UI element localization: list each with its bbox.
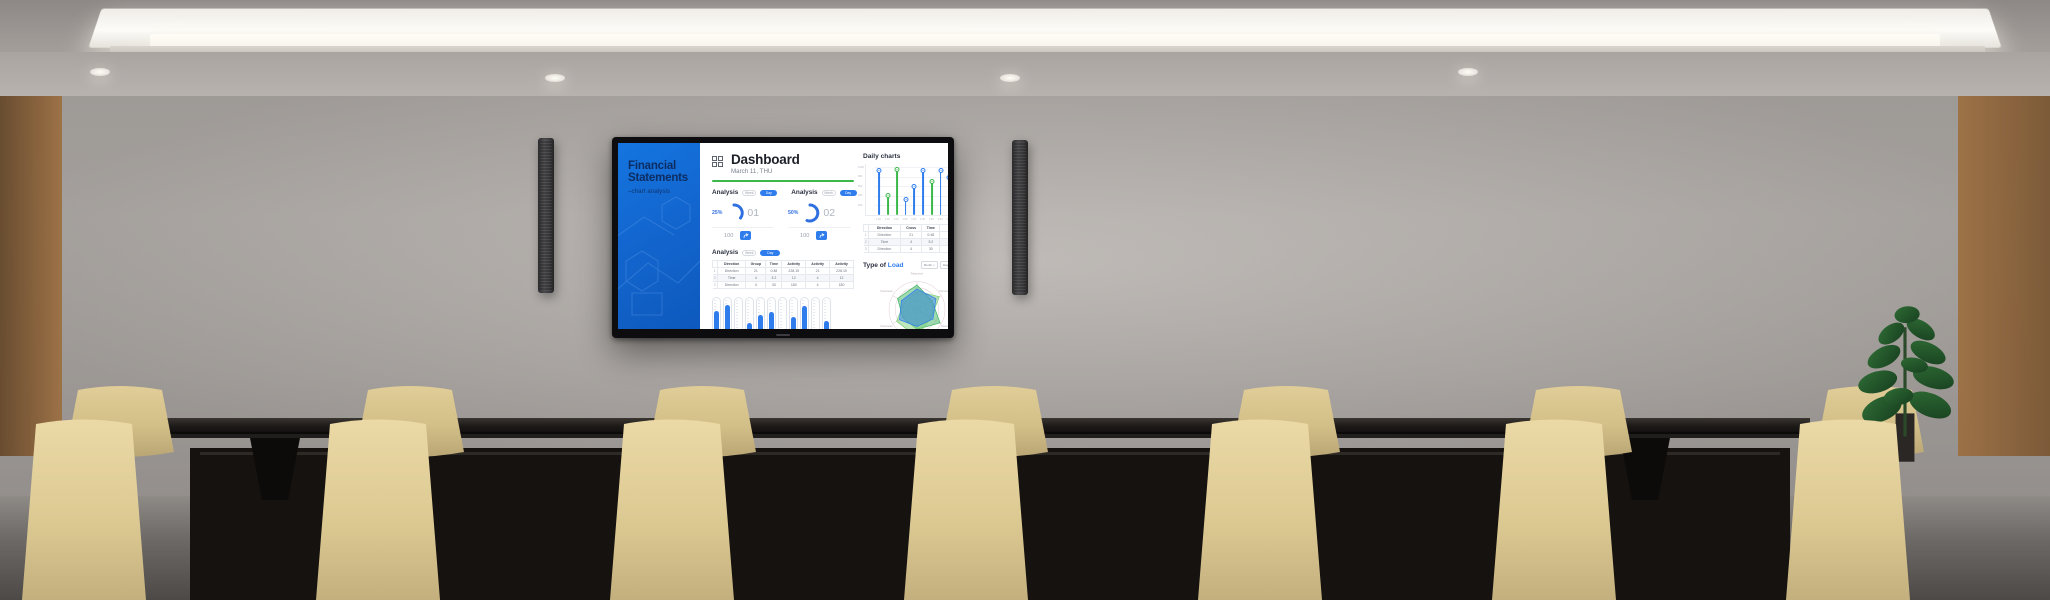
capsule-fill: [714, 311, 719, 329]
capsule-gauge-3[interactable]: [745, 297, 754, 329]
radar-label-0: Parameter: [911, 272, 924, 276]
daily-charts-plot: 1000 800 600 400 200: [865, 164, 948, 216]
lollipop-marker: [903, 197, 908, 202]
cell-0: Time: [869, 239, 901, 246]
cell-3: 228.15: [782, 268, 806, 275]
y-tick-3: 400: [858, 194, 862, 197]
cell-1: 21: [746, 268, 766, 275]
lollipop-stem: [896, 169, 898, 215]
analysis-label-2: Analysis: [791, 189, 817, 196]
lollipop-5[interactable]: [919, 164, 928, 215]
grid-icon: [712, 156, 725, 169]
cell-1: 4: [746, 282, 766, 289]
table-col-4: Activity: [806, 261, 830, 268]
cell-1: 4: [900, 246, 922, 253]
filter-select-1[interactable]: Day ▾: [940, 261, 948, 269]
cell-2: 3:2: [766, 275, 782, 282]
type-of-load-title-accent: Load: [888, 262, 904, 269]
table-row[interactable]: 1Direction210:48228.15: [864, 232, 949, 239]
speaker-bar-left: [538, 138, 554, 293]
cell-4: 21: [806, 268, 830, 275]
lollipop-6[interactable]: [927, 164, 936, 215]
slat-shading-left: [0, 96, 62, 456]
cell-0: Direction: [869, 246, 901, 253]
analysis-toggle-day-2[interactable]: Day: [840, 190, 857, 196]
cell-0: Direction: [869, 232, 901, 239]
lollipop-0[interactable]: [875, 164, 884, 215]
filter-label: Day: [943, 263, 948, 267]
dashboard-left-column: Dashboard March 11, THU Analysis Week Da…: [712, 153, 854, 323]
cell-3: 12: [940, 239, 948, 246]
capsule-fill: [791, 317, 796, 329]
table-header-row: DirectionCrossTimeDistance: [864, 225, 949, 232]
dashboard-header: Dashboard March 11, THU: [712, 153, 854, 175]
type-of-load-title-prefix: Type of: [863, 262, 888, 269]
cover-subtitle: –chart analysis: [628, 188, 700, 195]
cell-2: 3:2: [922, 239, 940, 246]
cover-title-line1: Financial: [628, 160, 700, 172]
lollipop-stem: [940, 170, 942, 215]
table-col-0: Direction: [718, 261, 746, 268]
analysis-toggle-row: Analysis Week Day Analysis Week Day: [712, 189, 854, 196]
capsule-gauge-10[interactable]: [822, 297, 831, 329]
table-col-5: Activity: [830, 261, 854, 268]
analysis-toggle-week-1[interactable]: Week: [742, 190, 756, 196]
lollipop-stem: [931, 181, 933, 215]
table-row[interactable]: 3Direction4301804180: [713, 282, 854, 289]
type-of-load-title: Type of Load: [863, 262, 904, 269]
lollipop-marker: [929, 179, 934, 184]
x-tick-0: 1.00: [874, 218, 883, 221]
lollipop-marker: [912, 184, 917, 189]
lollipop-8[interactable]: [945, 164, 948, 215]
analysis-toggle-day-1[interactable]: Day: [760, 190, 777, 196]
wall-mounted-display[interactable]: Financial Statements –chart analysis Das…: [612, 137, 954, 338]
cell-0: Direction: [718, 268, 746, 275]
floor-band: [0, 496, 2050, 600]
lollipop-3[interactable]: [901, 164, 910, 215]
x-tick-8: 1.00: [945, 218, 949, 221]
type-of-load-radar-chart: ParameterParameter 01ParameterParameterP…: [863, 271, 948, 329]
capsule-gauge-chart: [712, 295, 854, 329]
capsule-ticks: [813, 300, 815, 329]
speaker-bar-right: [1012, 140, 1028, 295]
analysis-label-1: Analysis: [712, 189, 738, 196]
ceiling-plane: [0, 52, 2050, 100]
analysis-block-1: Analysis Week Day: [712, 189, 777, 196]
gauge-row: 25% 01 100: [712, 203, 854, 240]
gauge-top-2: 50% 02: [788, 203, 850, 223]
capsule-fill: [758, 315, 763, 329]
capsule-fill: [769, 312, 774, 329]
daily-charts-x-axis: 1.001.001.001.001.001.001.001.001.001.00…: [863, 218, 948, 221]
dashboard-screen: Financial Statements –chart analysis Das…: [618, 143, 948, 329]
x-tick-7: 1.00: [936, 218, 945, 221]
cell-3: 180: [940, 246, 948, 253]
table-col-3: Activity: [782, 261, 806, 268]
y-tick-4: 200: [858, 204, 862, 207]
gauge-index-1: 01: [747, 207, 759, 219]
type-of-load-filters: Month ▾ Day ▾ Year ▾: [921, 261, 948, 269]
wood-slat-panel-left: [0, 96, 62, 456]
radar-label-4: Parameter: [880, 324, 893, 328]
cell-0: Direction: [718, 282, 746, 289]
type-of-load-header: Type of Load Month ▾ Day ▾ Year ▾: [863, 261, 948, 269]
cover-panel: Financial Statements –chart analysis: [618, 143, 700, 329]
conference-room-scene: Financial Statements –chart analysis Das…: [0, 0, 2050, 600]
table-col-2: Time: [766, 261, 782, 268]
slat-shading-right: [1958, 96, 2050, 456]
x-tick-3: 1.00: [900, 218, 909, 221]
cell-5: 12: [830, 275, 854, 282]
cell-1: 4: [746, 275, 766, 282]
cell-2: 30: [766, 282, 782, 289]
capsule-fill: [824, 321, 829, 329]
cell-3: 228.15: [940, 232, 948, 239]
gauge-percent-1: 25%: [712, 210, 722, 216]
lollipop-marker: [947, 175, 948, 180]
dashboard-content: Dashboard March 11, THU Analysis Week Da…: [700, 143, 948, 329]
share-icon-button-1[interactable]: [740, 231, 751, 240]
gauge-bottom-2: 100: [788, 227, 850, 240]
cover-title: Financial Statements: [628, 160, 700, 185]
lollipop-4[interactable]: [910, 164, 919, 215]
lollipop-2[interactable]: [892, 164, 901, 215]
radar-label-1: Parameter 01: [939, 289, 948, 293]
gauge-unit-2: 50% 02 100: [788, 203, 850, 240]
x-tick-2: 1.00: [892, 218, 901, 221]
daily-charts-table: DirectionCrossTimeDistance 1Direction210…: [863, 224, 948, 253]
cell-1: 21: [900, 232, 922, 239]
capsule-ticks: [780, 300, 782, 329]
downlight-3: [1000, 74, 1020, 82]
cell-3: 180: [782, 282, 806, 289]
lollipop-stem: [878, 171, 880, 215]
capsule-ticks: [736, 300, 738, 329]
analysis-toggle-row-bottom: Analysis Week Day: [712, 249, 854, 256]
table-col-3: Distance: [940, 225, 948, 232]
table-body: 1Direction210:48228.152Time43:2123Direct…: [864, 232, 949, 253]
x-tick-5: 1.00: [918, 218, 927, 221]
chevron-down-icon: ▾: [933, 264, 934, 267]
gauge-value-2: 100: [800, 233, 809, 239]
radar-chart-wrap: ParameterParameter 01ParameterParameterP…: [863, 271, 948, 329]
dashboard-right-column: Daily charts 1000 800 600 400 200: [863, 153, 948, 323]
lollipop-marker: [921, 168, 926, 173]
radar-label-5: Parameter: [880, 289, 893, 293]
x-tick-1: 1.00: [883, 218, 892, 221]
cell-3: 12: [782, 275, 806, 282]
cell-4: 4: [806, 282, 830, 289]
cell-1: 4: [900, 239, 922, 246]
downlight-2: [545, 74, 565, 82]
cell-2: 0:48: [766, 268, 782, 275]
table-col-1: Group: [746, 261, 766, 268]
y-tick-0: 1000: [858, 166, 864, 169]
lollipop-1[interactable]: [884, 164, 893, 215]
cell-5: 180: [830, 282, 854, 289]
lollipop-stem: [922, 171, 924, 215]
capsule-fill: [802, 306, 807, 329]
daily-charts-title: Daily charts: [863, 153, 948, 160]
capsule-gauge-6[interactable]: [778, 297, 787, 329]
share-icon-button-2[interactable]: [816, 231, 827, 240]
capsule-gauge-4[interactable]: [756, 297, 765, 329]
cell-0: Time: [718, 275, 746, 282]
header-accent-rule: [712, 180, 854, 182]
lollipop-marker: [938, 168, 943, 173]
lollipop-stem: [887, 196, 889, 215]
cell-2: 0:48: [922, 232, 940, 239]
x-tick-4: 1.00: [909, 218, 918, 221]
downlight-1: [90, 68, 110, 76]
analysis-bottom-toggle-week[interactable]: Week: [742, 250, 756, 256]
capsule-fill: [747, 323, 752, 329]
y-tick-1: 800: [858, 175, 862, 178]
analysis-toggle-week-2[interactable]: Week: [822, 190, 836, 196]
analysis-table-bottom: DirectionGroupTimeActivityActivityActivi…: [712, 260, 854, 289]
lollipop-stem: [913, 186, 915, 215]
table-body: 1Direction210:48228.1521228.152Time43:21…: [713, 268, 854, 289]
cell-2: 30: [922, 246, 940, 253]
gauge-value-1: 100: [724, 233, 733, 239]
table-row[interactable]: 3Direction430180: [864, 246, 949, 253]
lollipop-marker: [894, 167, 899, 172]
analysis-label-bottom: Analysis: [712, 249, 738, 256]
gauge-arc-2: [800, 203, 820, 223]
gauge-top-1: 25% 01: [712, 203, 774, 223]
wood-slat-panel-right: [1958, 96, 2050, 456]
capsule-gauge-2[interactable]: [734, 297, 743, 329]
table-col-2: Time: [922, 225, 940, 232]
table-col-1: Cross: [900, 225, 922, 232]
y-tick-2: 600: [858, 185, 862, 188]
gauge-unit-1: 25% 01 100: [712, 203, 774, 240]
table-row[interactable]: 2Time43:212412: [713, 275, 854, 282]
cell-4: 4: [806, 275, 830, 282]
capsule-gauge-8[interactable]: [800, 297, 809, 329]
table-row[interactable]: 2Time43:212: [864, 239, 949, 246]
gauge-index-2: 02: [823, 207, 835, 219]
capsule-gauge-7[interactable]: [789, 297, 798, 329]
page-title: Dashboard: [731, 153, 800, 167]
table-row[interactable]: 1Direction210:48228.1521228.15: [713, 268, 854, 275]
capsule-gauge-1[interactable]: [723, 297, 732, 329]
lollipop-7[interactable]: [936, 164, 945, 215]
page-date: March 11, THU: [731, 168, 800, 175]
capsule-gauge-9[interactable]: [811, 297, 820, 329]
cover-title-line2: Statements: [628, 172, 700, 184]
table-col-0: Direction: [869, 225, 901, 232]
downlight-4: [1458, 68, 1478, 76]
analysis-block-2: Analysis Week Day: [791, 189, 856, 196]
x-tick-6: 1.00: [927, 218, 936, 221]
capsule-gauge-5[interactable]: [767, 297, 776, 329]
capsule-gauge-0[interactable]: [712, 297, 721, 329]
lollipop-marker: [877, 168, 882, 173]
analysis-bottom-toggle-day[interactable]: Day: [760, 250, 780, 256]
capsule-fill: [725, 305, 730, 329]
filter-select-0[interactable]: Month ▾: [921, 261, 938, 269]
radar-label-2: Parameter: [941, 324, 948, 328]
table-header-row: DirectionGroupTimeActivityActivityActivi…: [713, 261, 854, 268]
gauge-percent-2: 50%: [788, 210, 798, 216]
gauge-bottom-1: 100: [712, 227, 774, 240]
cell-5: 228.15: [830, 268, 854, 275]
lollipop-marker: [886, 193, 891, 198]
filter-label: Month: [924, 263, 932, 267]
gauge-arc-1: [724, 203, 744, 223]
